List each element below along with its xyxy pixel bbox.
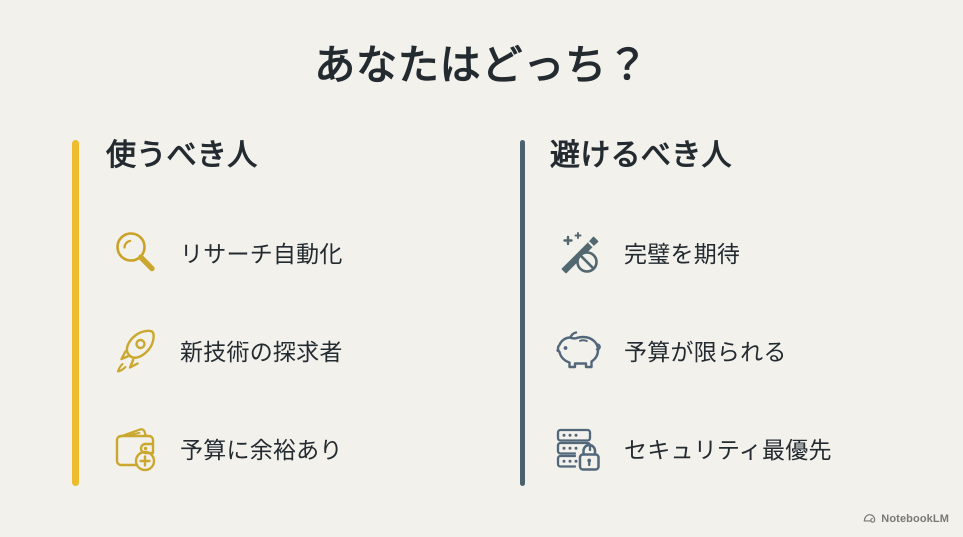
column-heading-avoid: 避けるべき人 xyxy=(550,138,936,184)
item-list-avoid: 完璧を期待 予算が限られる xyxy=(550,214,936,486)
magic-wand-blocked-icon xyxy=(550,223,608,281)
list-item[interactable]: 予算に余裕あり xyxy=(106,410,492,486)
notebooklm-logo-icon xyxy=(863,512,876,525)
list-item[interactable]: リサーチ自動化 xyxy=(106,214,492,290)
piggy-bank-icon xyxy=(550,321,608,379)
list-item-label: 新技術の探求者 xyxy=(180,333,343,367)
list-item[interactable]: セキュリティ最優先 xyxy=(550,410,936,486)
server-lock-icon xyxy=(550,419,608,477)
list-item-label: リサーチ自動化 xyxy=(180,235,343,269)
slide-canvas: あなたはどっち？ 使うべき人 リサーチ自動化 xyxy=(0,0,963,537)
list-item-label: 完璧を期待 xyxy=(624,235,740,269)
list-item-label: 予算に余裕あり xyxy=(180,431,343,465)
list-item-label: 予算が限られる xyxy=(624,333,787,367)
list-item[interactable]: 完璧を期待 xyxy=(550,214,936,290)
column-use: 使うべき人 リサーチ自動化 xyxy=(72,138,492,486)
notebooklm-watermark-label: NotebookLM xyxy=(881,513,949,525)
item-list-use: リサーチ自動化 新技術の探求者 xyxy=(106,214,492,486)
accent-bar-left xyxy=(72,140,79,486)
column-heading-use: 使うべき人 xyxy=(106,138,492,184)
notebooklm-watermark: NotebookLM xyxy=(863,512,949,525)
list-item[interactable]: 新技術の探求者 xyxy=(106,312,492,388)
list-item[interactable]: 予算が限られる xyxy=(550,312,936,388)
magnifying-glass-icon xyxy=(106,223,164,281)
accent-bar-right xyxy=(520,140,525,486)
column-avoid: 避けるべき人 完璧を期待 xyxy=(520,138,940,486)
rocket-icon xyxy=(106,321,164,379)
list-item-label: セキュリティ最優先 xyxy=(624,431,832,465)
wallet-plus-icon xyxy=(106,419,164,477)
page-title: あなたはどっち？ xyxy=(0,40,963,91)
